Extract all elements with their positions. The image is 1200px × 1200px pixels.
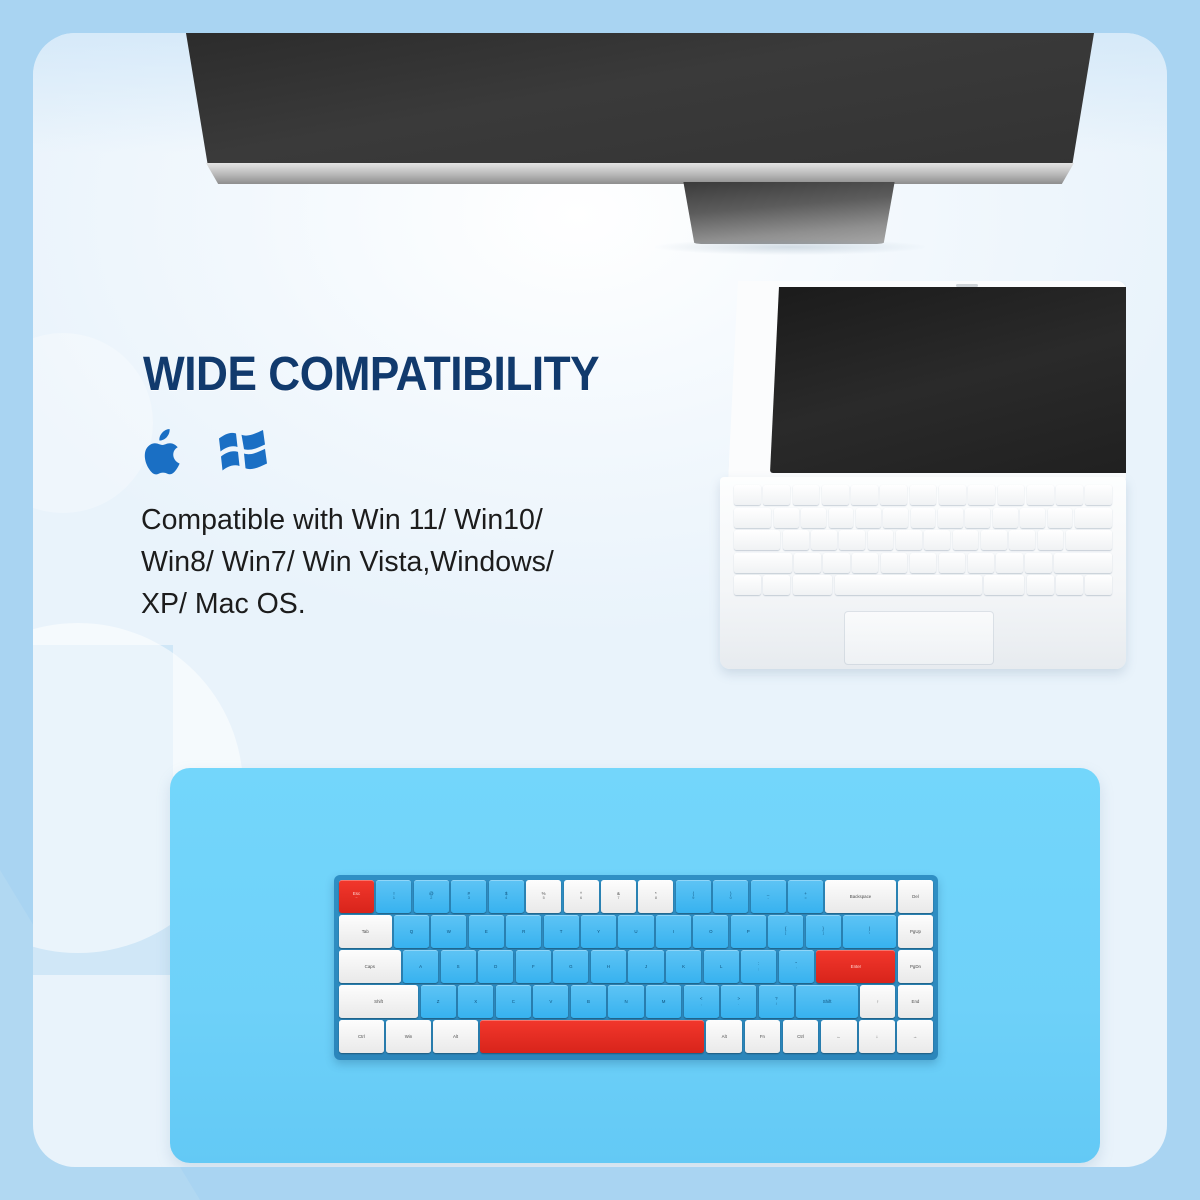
keycap-alt[interactable]: Alt bbox=[433, 1020, 478, 1053]
tablet-key bbox=[996, 553, 1022, 573]
keycap-sublegend: / bbox=[776, 1002, 777, 1007]
keycap-legend: T bbox=[560, 929, 563, 934]
mechanical-keyboard: Esc~!1@2#3$4%5^6&7*8(9)0_-+=BackspaceDel… bbox=[334, 875, 938, 1060]
tablet-key-row bbox=[734, 508, 1112, 528]
keycap-n[interactable]: N bbox=[608, 985, 643, 1018]
keycap-v[interactable]: V bbox=[533, 985, 568, 1018]
keycap-legend: U bbox=[634, 929, 637, 934]
keycap-sublegend: ' bbox=[796, 967, 797, 972]
keycap-caps[interactable]: Caps bbox=[339, 950, 401, 983]
tablet-key bbox=[734, 553, 792, 573]
compatibility-line-3: XP/ Mac OS. bbox=[141, 583, 641, 625]
compatibility-description: Compatible with Win 11/ Win10/ Win8/ Win… bbox=[141, 499, 641, 625]
decorative-circle-small bbox=[33, 333, 153, 513]
keycap-fn[interactable]: Fn bbox=[745, 1020, 781, 1053]
tablet-key bbox=[1009, 530, 1035, 550]
keycap-legend: B bbox=[587, 999, 590, 1004]
keycap-legend: S bbox=[457, 964, 460, 969]
tablet-key-row bbox=[734, 530, 1112, 550]
tablet-key bbox=[939, 485, 966, 505]
keycap-sublegend: 0 bbox=[730, 896, 732, 901]
keycap-shift[interactable]: Shift bbox=[339, 985, 418, 1018]
tablet-key bbox=[1056, 575, 1083, 595]
content-card: WIDE COMPATIBILITY Compatible with Wi bbox=[33, 33, 1167, 1167]
keycap--[interactable]: $4 bbox=[489, 880, 524, 913]
tablet-key bbox=[1027, 575, 1054, 595]
keycap-i[interactable]: I bbox=[656, 915, 691, 948]
monitor-shadow bbox=[655, 239, 925, 255]
tablet-key bbox=[822, 485, 849, 505]
keycap-sublegend: 6 bbox=[580, 896, 582, 901]
tablet-key bbox=[811, 530, 837, 550]
keyboard-row-4: ShiftZXCVBNM<,>.?/Shift↑End bbox=[339, 985, 933, 1018]
keycap-legend: X bbox=[474, 999, 477, 1004]
keycap--[interactable]: "' bbox=[779, 950, 814, 983]
keycap-w[interactable]: W bbox=[431, 915, 466, 948]
windows-logo-icon bbox=[217, 430, 269, 476]
keycap-p[interactable]: P bbox=[731, 915, 766, 948]
keycap-h[interactable]: H bbox=[591, 950, 626, 983]
keycap--[interactable]: += bbox=[788, 880, 823, 913]
keycap-legend: W bbox=[447, 929, 451, 934]
tablet-key bbox=[1048, 508, 1073, 528]
tablet-key bbox=[774, 508, 799, 528]
keycap-legend: J bbox=[645, 964, 647, 969]
page-title: WIDE COMPATIBILITY bbox=[143, 347, 599, 402]
keycap-legend: D bbox=[494, 964, 497, 969]
keycap-legend: V bbox=[549, 999, 552, 1004]
keycap-legend: Caps bbox=[365, 964, 375, 969]
keycap-legend: F bbox=[532, 964, 535, 969]
tablet-key bbox=[910, 485, 937, 505]
tablet-key bbox=[783, 530, 809, 550]
tablet-key bbox=[851, 485, 878, 505]
keycap-enter[interactable]: Enter bbox=[816, 950, 895, 983]
keycap-legend: ← bbox=[837, 1034, 841, 1039]
keycap-legend: Tab bbox=[362, 929, 369, 934]
keycap--[interactable]: ↑ bbox=[860, 985, 895, 1018]
keycap--[interactable]: <, bbox=[684, 985, 719, 1018]
keycap--[interactable]: (9 bbox=[676, 880, 711, 913]
tablet-key bbox=[734, 530, 780, 550]
keycap-legend: O bbox=[709, 929, 712, 934]
tablet-key bbox=[968, 553, 994, 573]
tablet-key bbox=[1054, 553, 1112, 573]
keycap-sublegend: ] bbox=[823, 931, 824, 936]
keycap-b[interactable]: B bbox=[571, 985, 606, 1018]
keycap-e[interactable]: E bbox=[469, 915, 504, 948]
keycap-sublegend: \ bbox=[869, 931, 870, 936]
monitor-screen bbox=[185, 33, 1095, 165]
keycap-space[interactable] bbox=[480, 1020, 704, 1053]
keycap-alt[interactable]: Alt bbox=[706, 1020, 742, 1053]
keycap-del[interactable]: Del bbox=[898, 880, 933, 913]
keycap-sublegend: = bbox=[804, 896, 806, 901]
monitor-stand bbox=[679, 182, 899, 244]
keycap-backspace[interactable]: Backspace bbox=[825, 880, 895, 913]
tablet-key bbox=[968, 485, 995, 505]
keycap--[interactable]: :; bbox=[741, 950, 776, 983]
keycap-sublegend: 2 bbox=[430, 896, 432, 901]
keycap-legend: N bbox=[624, 999, 627, 1004]
keycap--[interactable]: *8 bbox=[638, 880, 673, 913]
keycap-legend: L bbox=[720, 964, 722, 969]
tablet-key bbox=[965, 508, 990, 528]
tablet-key bbox=[793, 575, 833, 595]
keycap-g[interactable]: G bbox=[553, 950, 588, 983]
keycap-c[interactable]: C bbox=[496, 985, 531, 1018]
tablet-screen bbox=[770, 287, 1144, 473]
keycap-legend: ↑ bbox=[877, 999, 879, 1004]
tablet-key bbox=[1066, 530, 1112, 550]
monitor-bezel-chin bbox=[206, 163, 1074, 184]
keycap-a[interactable]: A bbox=[403, 950, 438, 983]
os-logo-group bbox=[143, 429, 269, 476]
tablet-key bbox=[1085, 485, 1112, 505]
keycap-s[interactable]: S bbox=[441, 950, 476, 983]
tablet-key bbox=[1020, 508, 1045, 528]
keycap-l[interactable]: L bbox=[704, 950, 739, 983]
tablet-key bbox=[993, 508, 1018, 528]
keycap-legend: ↓ bbox=[876, 1034, 878, 1039]
keycap-sublegend: 9 bbox=[692, 896, 694, 901]
keycap-sublegend: 1 bbox=[393, 896, 395, 901]
keycap-legend: I bbox=[673, 929, 674, 934]
tablet-key bbox=[881, 553, 907, 573]
keycap-esc[interactable]: Esc~ bbox=[339, 880, 374, 913]
tablet-key bbox=[852, 553, 878, 573]
keycap-d[interactable]: D bbox=[478, 950, 513, 983]
keycap-legend: Ctrl bbox=[797, 1034, 804, 1039]
keycap-legend: Fn bbox=[760, 1034, 765, 1039]
keycap-sublegend: ~ bbox=[355, 896, 357, 901]
keyboard-row-5: CtrlWinAltAltFnCtrl←↓→ bbox=[339, 1020, 933, 1053]
tablet-key bbox=[883, 508, 908, 528]
keycap-q[interactable]: Q bbox=[394, 915, 429, 948]
tablet-key bbox=[1056, 485, 1083, 505]
keycap-legend: Shift bbox=[374, 999, 383, 1004]
keycap--[interactable]: !1 bbox=[376, 880, 411, 913]
keycap--[interactable]: >. bbox=[721, 985, 756, 1018]
tablet-trackpad bbox=[844, 611, 994, 665]
compatibility-line-1: Compatible with Win 11/ Win10/ bbox=[141, 499, 641, 541]
tablet-key bbox=[880, 485, 907, 505]
keycap-sublegend: 4 bbox=[505, 896, 507, 901]
desktop-monitor bbox=[185, 33, 1095, 257]
tablet-key bbox=[1025, 553, 1051, 573]
keycap--[interactable]: |\ bbox=[843, 915, 896, 948]
tablet-key bbox=[763, 485, 790, 505]
tablet-key bbox=[793, 485, 820, 505]
keycap-sublegend: 8 bbox=[655, 896, 657, 901]
keycap--[interactable]: _- bbox=[751, 880, 786, 913]
apple-logo-icon bbox=[143, 429, 183, 476]
keycap-u[interactable]: U bbox=[618, 915, 653, 948]
keycap-y[interactable]: Y bbox=[581, 915, 616, 948]
keycap-legend: P bbox=[747, 929, 750, 934]
keycap-legend: Z bbox=[437, 999, 440, 1004]
keycap-pgdn[interactable]: PgDn bbox=[898, 950, 933, 983]
keycap-win[interactable]: Win bbox=[386, 1020, 431, 1053]
keycap--[interactable]: #3 bbox=[451, 880, 486, 913]
keycap-legend: Del bbox=[912, 894, 919, 899]
keyboard-row-2: TabQWERTYUIOP{[}]|\PgUp bbox=[339, 915, 933, 948]
keycap--[interactable]: ^6 bbox=[564, 880, 599, 913]
product-banner: WIDE COMPATIBILITY Compatible with Wi bbox=[0, 0, 1200, 1200]
compatibility-line-2: Win8/ Win7/ Win Vista,Windows/ bbox=[141, 541, 641, 583]
tablet-key bbox=[1085, 575, 1112, 595]
keycap-r[interactable]: R bbox=[506, 915, 541, 948]
tablet-key bbox=[856, 508, 881, 528]
keycap-f[interactable]: F bbox=[516, 950, 551, 983]
keycap--[interactable]: @2 bbox=[414, 880, 449, 913]
tablet-key bbox=[998, 485, 1025, 505]
keycap-legend: C bbox=[512, 999, 515, 1004]
tablet-key bbox=[1038, 530, 1064, 550]
keycap-legend: Ctrl bbox=[358, 1034, 365, 1039]
tablet-body bbox=[728, 281, 1126, 481]
keycap--[interactable]: ?/ bbox=[759, 985, 794, 1018]
tablet-key bbox=[823, 553, 849, 573]
keycap--[interactable]: {[ bbox=[768, 915, 803, 948]
keycap-legend: Enter bbox=[851, 964, 862, 969]
keycap-o[interactable]: O bbox=[693, 915, 728, 948]
keyboard-row-1: Esc~!1@2#3$4%5^6&7*8(9)0_-+=BackspaceDel bbox=[339, 880, 933, 913]
tablet-key bbox=[911, 508, 936, 528]
keycap--[interactable]: }] bbox=[806, 915, 841, 948]
keycap-legend: K bbox=[682, 964, 685, 969]
tablet-key bbox=[829, 508, 854, 528]
keycap-legend: E bbox=[485, 929, 488, 934]
tablet-key bbox=[839, 530, 865, 550]
keycap-j[interactable]: J bbox=[628, 950, 663, 983]
keycap--[interactable]: %5 bbox=[526, 880, 561, 913]
keycap-legend: Q bbox=[410, 929, 413, 934]
tablet-key bbox=[924, 530, 950, 550]
keycap-shift[interactable]: Shift bbox=[796, 985, 858, 1018]
keycap-legend: → bbox=[913, 1034, 917, 1039]
keycap-pgup[interactable]: PgUp bbox=[898, 915, 933, 948]
tablet-keyboard-keys bbox=[734, 485, 1112, 603]
tablet-camera bbox=[956, 284, 978, 287]
keycap-end[interactable]: End bbox=[898, 985, 933, 1018]
mechanical-keyboard-rows: Esc~!1@2#3$4%5^6&7*8(9)0_-+=BackspaceDel… bbox=[339, 880, 933, 1053]
keycap-ctrl[interactable]: Ctrl bbox=[783, 1020, 819, 1053]
keycap-sublegend: 3 bbox=[468, 896, 470, 901]
keycap--[interactable]: )0 bbox=[713, 880, 748, 913]
keycap--[interactable]: ↓ bbox=[859, 1020, 895, 1053]
keycap-z[interactable]: Z bbox=[421, 985, 456, 1018]
tablet-key bbox=[763, 575, 790, 595]
tablet-key-row bbox=[734, 553, 1112, 573]
tablet-key bbox=[794, 553, 820, 573]
keycap-sublegend: - bbox=[768, 896, 769, 901]
keycap-legend: H bbox=[607, 964, 610, 969]
keycap-sublegend: , bbox=[701, 1002, 702, 1007]
tablet-spacebar bbox=[835, 575, 982, 595]
keycap--[interactable]: ← bbox=[821, 1020, 857, 1053]
keycap-x[interactable]: X bbox=[458, 985, 493, 1018]
tablet-key bbox=[1027, 485, 1054, 505]
keycap-legend: A bbox=[419, 964, 422, 969]
tablet-key-row bbox=[734, 485, 1112, 505]
keycap-sublegend: [ bbox=[785, 931, 786, 936]
keycap-legend: M bbox=[662, 999, 666, 1004]
keycap--[interactable]: &7 bbox=[601, 880, 636, 913]
desk-mat: Esc~!1@2#3$4%5^6&7*8(9)0_-+=BackspaceDel… bbox=[170, 768, 1100, 1163]
keycap-legend: PgUp bbox=[910, 929, 921, 934]
tablet-key bbox=[981, 530, 1007, 550]
tablet-keyboard-base bbox=[720, 477, 1126, 669]
keycap-legend: PgDn bbox=[910, 964, 921, 969]
tablet-key bbox=[868, 530, 894, 550]
tablet-key bbox=[984, 575, 1024, 595]
tablet-key bbox=[734, 508, 771, 528]
tablet-key bbox=[939, 553, 965, 573]
tablet-key bbox=[953, 530, 979, 550]
keycap-k[interactable]: K bbox=[666, 950, 701, 983]
keycap-sublegend: . bbox=[738, 1002, 739, 1007]
keycap-ctrl[interactable]: Ctrl bbox=[339, 1020, 384, 1053]
keycap-legend: Backspace bbox=[850, 894, 871, 899]
keycap-sublegend: 5 bbox=[543, 896, 545, 901]
tablet-key bbox=[938, 508, 963, 528]
keycap-legend: Alt bbox=[453, 1034, 458, 1039]
keycap-sublegend: 7 bbox=[617, 896, 619, 901]
tablet-key bbox=[801, 508, 826, 528]
keycap-tab[interactable]: Tab bbox=[339, 915, 392, 948]
keycap-sublegend: ; bbox=[758, 967, 759, 972]
tablet-key bbox=[910, 553, 936, 573]
keycap-legend: G bbox=[569, 964, 572, 969]
tablet-key bbox=[734, 575, 761, 595]
tablet-keyboard-case bbox=[698, 281, 1126, 681]
tablet-key bbox=[896, 530, 922, 550]
tablet-key bbox=[734, 485, 761, 505]
keycap-legend: Y bbox=[597, 929, 600, 934]
keycap-legend: End bbox=[912, 999, 920, 1004]
keyboard-row-3: CapsASDFGHJKL:;"'EnterPgDn bbox=[339, 950, 933, 983]
tablet-key bbox=[1075, 508, 1112, 528]
keycap-legend: Shift bbox=[823, 999, 832, 1004]
keycap-t[interactable]: T bbox=[544, 915, 579, 948]
tablet-key-row bbox=[734, 575, 1112, 595]
keycap-legend: Alt bbox=[722, 1034, 727, 1039]
keycap--[interactable]: → bbox=[897, 1020, 933, 1053]
keycap-legend: R bbox=[522, 929, 525, 934]
keycap-legend: Win bbox=[405, 1034, 413, 1039]
keycap-m[interactable]: M bbox=[646, 985, 681, 1018]
